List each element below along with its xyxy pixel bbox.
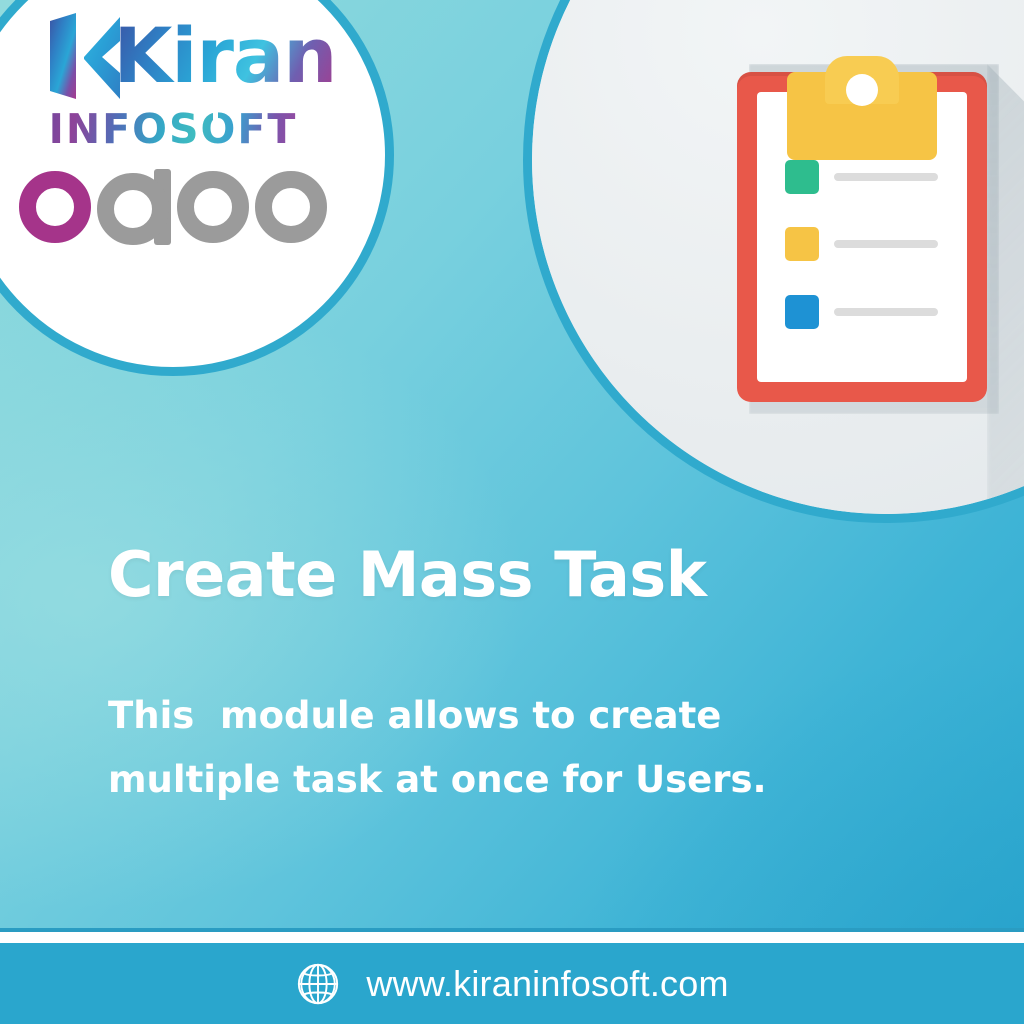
odoo-letter-d (97, 169, 171, 245)
odoo-letter-o-gray-2 (255, 171, 327, 243)
kiran-wordmark: Kiran (46, 11, 301, 101)
checklist-swatch-green (785, 160, 819, 194)
page-title: Create Mass Task (108, 538, 928, 612)
globe-icon (295, 961, 341, 1007)
logo-stack: Kiran INFOSOFT (0, 11, 385, 245)
kiran-k-glyph (46, 11, 124, 101)
headline-block: Create Mass Task This module allows to c… (108, 538, 928, 812)
checklist-item (785, 227, 938, 261)
footer-divider-gap (0, 932, 1024, 943)
checklist-swatch-yellow (785, 227, 819, 261)
infosoft-wordmark: INFOSOFT (37, 105, 309, 153)
odoo-d-bowl (97, 173, 169, 245)
page-subtitle: This module allows to create multiple ta… (108, 684, 868, 812)
checklist-item (785, 295, 938, 329)
power-notch-icon (213, 109, 218, 123)
promo-poster: Kiran INFOSOFT Create Mass Task This mod (0, 0, 1024, 1024)
odoo-letter-o-magenta (19, 171, 91, 243)
checklist-line (834, 173, 938, 181)
footer-bar: www.kiraninfosoft.com (0, 943, 1024, 1024)
website-url[interactable]: www.kiraninfosoft.com (366, 962, 728, 1006)
illustration-badge (523, 0, 1024, 523)
clipboard-clip-hole (846, 74, 878, 106)
checklist-line (834, 240, 938, 248)
checklist-line (834, 308, 938, 316)
checklist-swatch-blue (785, 295, 819, 329)
kiran-text: Kiran (114, 13, 337, 99)
odoo-letter-o-gray-1 (177, 171, 249, 243)
clipboard-board (737, 72, 987, 402)
infosoft-text: INFOSOFT (37, 105, 309, 153)
clipboard-checklist-icon (737, 46, 987, 401)
checklist-item (785, 160, 938, 194)
logo-badge: Kiran INFOSOFT (0, 0, 394, 376)
odoo-wordmark (19, 169, 327, 245)
